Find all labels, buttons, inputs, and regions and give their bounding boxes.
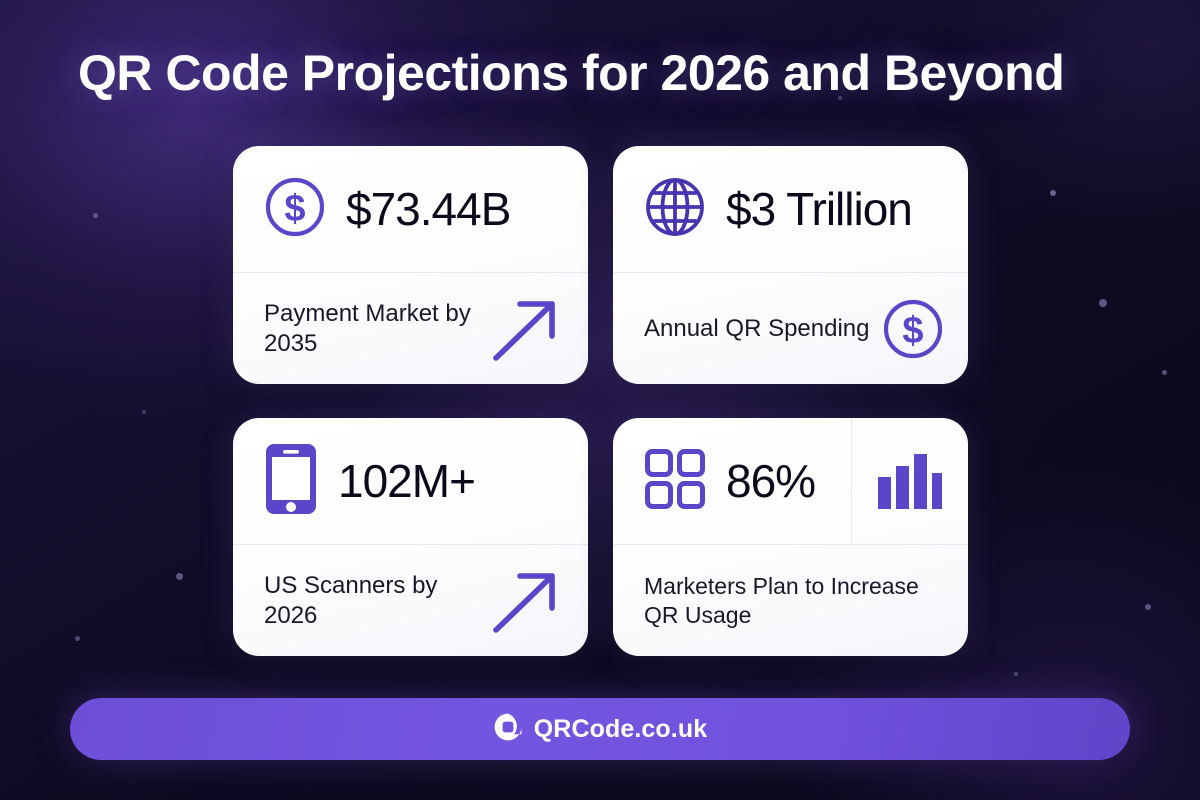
stat-card-marketers-plan[interactable]: 86%: [613, 418, 968, 656]
smartphone-icon: [264, 442, 318, 521]
qrcode-logo-icon: [493, 712, 523, 747]
card-header-main: 86%: [613, 418, 852, 544]
trending-up-arrow-icon: [490, 564, 564, 638]
card-footer: Annual QR Spending $: [613, 273, 968, 384]
background-particle: [1014, 672, 1018, 676]
qr-grid-icon: [644, 448, 706, 515]
svg-text:$: $: [902, 310, 923, 352]
stat-card-grid: $ $73.44B Payment Market by 2035: [233, 146, 968, 656]
footer-brand-text: QRCode.co.uk: [534, 715, 707, 744]
page-title: QR Code Projections for 2026 and Beyond: [78, 44, 1138, 102]
background-particle: [142, 410, 146, 414]
background-particle: [1145, 604, 1151, 610]
footer-brand-bar[interactable]: QRCode.co.uk: [70, 698, 1130, 760]
card-footer: US Scanners by 2026: [233, 545, 588, 656]
stat-label: Annual QR Spending: [644, 314, 872, 343]
stat-card-payment-market[interactable]: $ $73.44B Payment Market by 2035: [233, 146, 588, 384]
card-header: 86%: [613, 418, 968, 544]
stat-value: 102M+: [338, 454, 475, 508]
infographic-root: QR Code Projections for 2026 and Beyond …: [0, 0, 1200, 800]
stat-card-us-scanners[interactable]: 102M+ US Scanners by 2026: [233, 418, 588, 656]
card-footer: Marketers Plan to Increase QR Usage: [613, 545, 968, 656]
background-particle: [1099, 299, 1107, 307]
stat-card-annual-qr-spending[interactable]: $3 Trillion Annual QR Spending $: [613, 146, 968, 384]
dollar-circle-icon: $: [264, 176, 326, 243]
dollar-circle-icon: $: [882, 298, 944, 360]
background-particle: [1050, 190, 1056, 196]
globe-icon: [644, 176, 706, 243]
svg-text:$: $: [284, 188, 305, 230]
background-particle: [176, 573, 183, 580]
trending-up-arrow-icon: [490, 292, 564, 366]
card-header: $3 Trillion: [613, 146, 968, 272]
card-header-aside: [852, 418, 968, 544]
card-header-main: 102M+: [233, 442, 588, 521]
background-particle: [93, 213, 98, 218]
card-header-main: $ $73.44B: [233, 176, 588, 243]
background-particle: [1162, 370, 1167, 375]
stat-value: $3 Trillion: [726, 182, 912, 236]
background-particle: [75, 636, 80, 641]
card-header: 102M+: [233, 418, 588, 544]
card-header-main: $3 Trillion: [613, 176, 968, 243]
stat-value: 86%: [726, 454, 815, 508]
bar-chart-icon: [875, 446, 945, 517]
stat-label: US Scanners by 2026: [264, 571, 480, 630]
stat-value: $73.44B: [346, 182, 510, 236]
card-footer: Payment Market by 2035: [233, 273, 588, 384]
stat-label: Payment Market by 2035: [264, 299, 480, 358]
card-header: $ $73.44B: [233, 146, 588, 272]
stat-label: Marketers Plan to Increase QR Usage: [644, 572, 944, 628]
